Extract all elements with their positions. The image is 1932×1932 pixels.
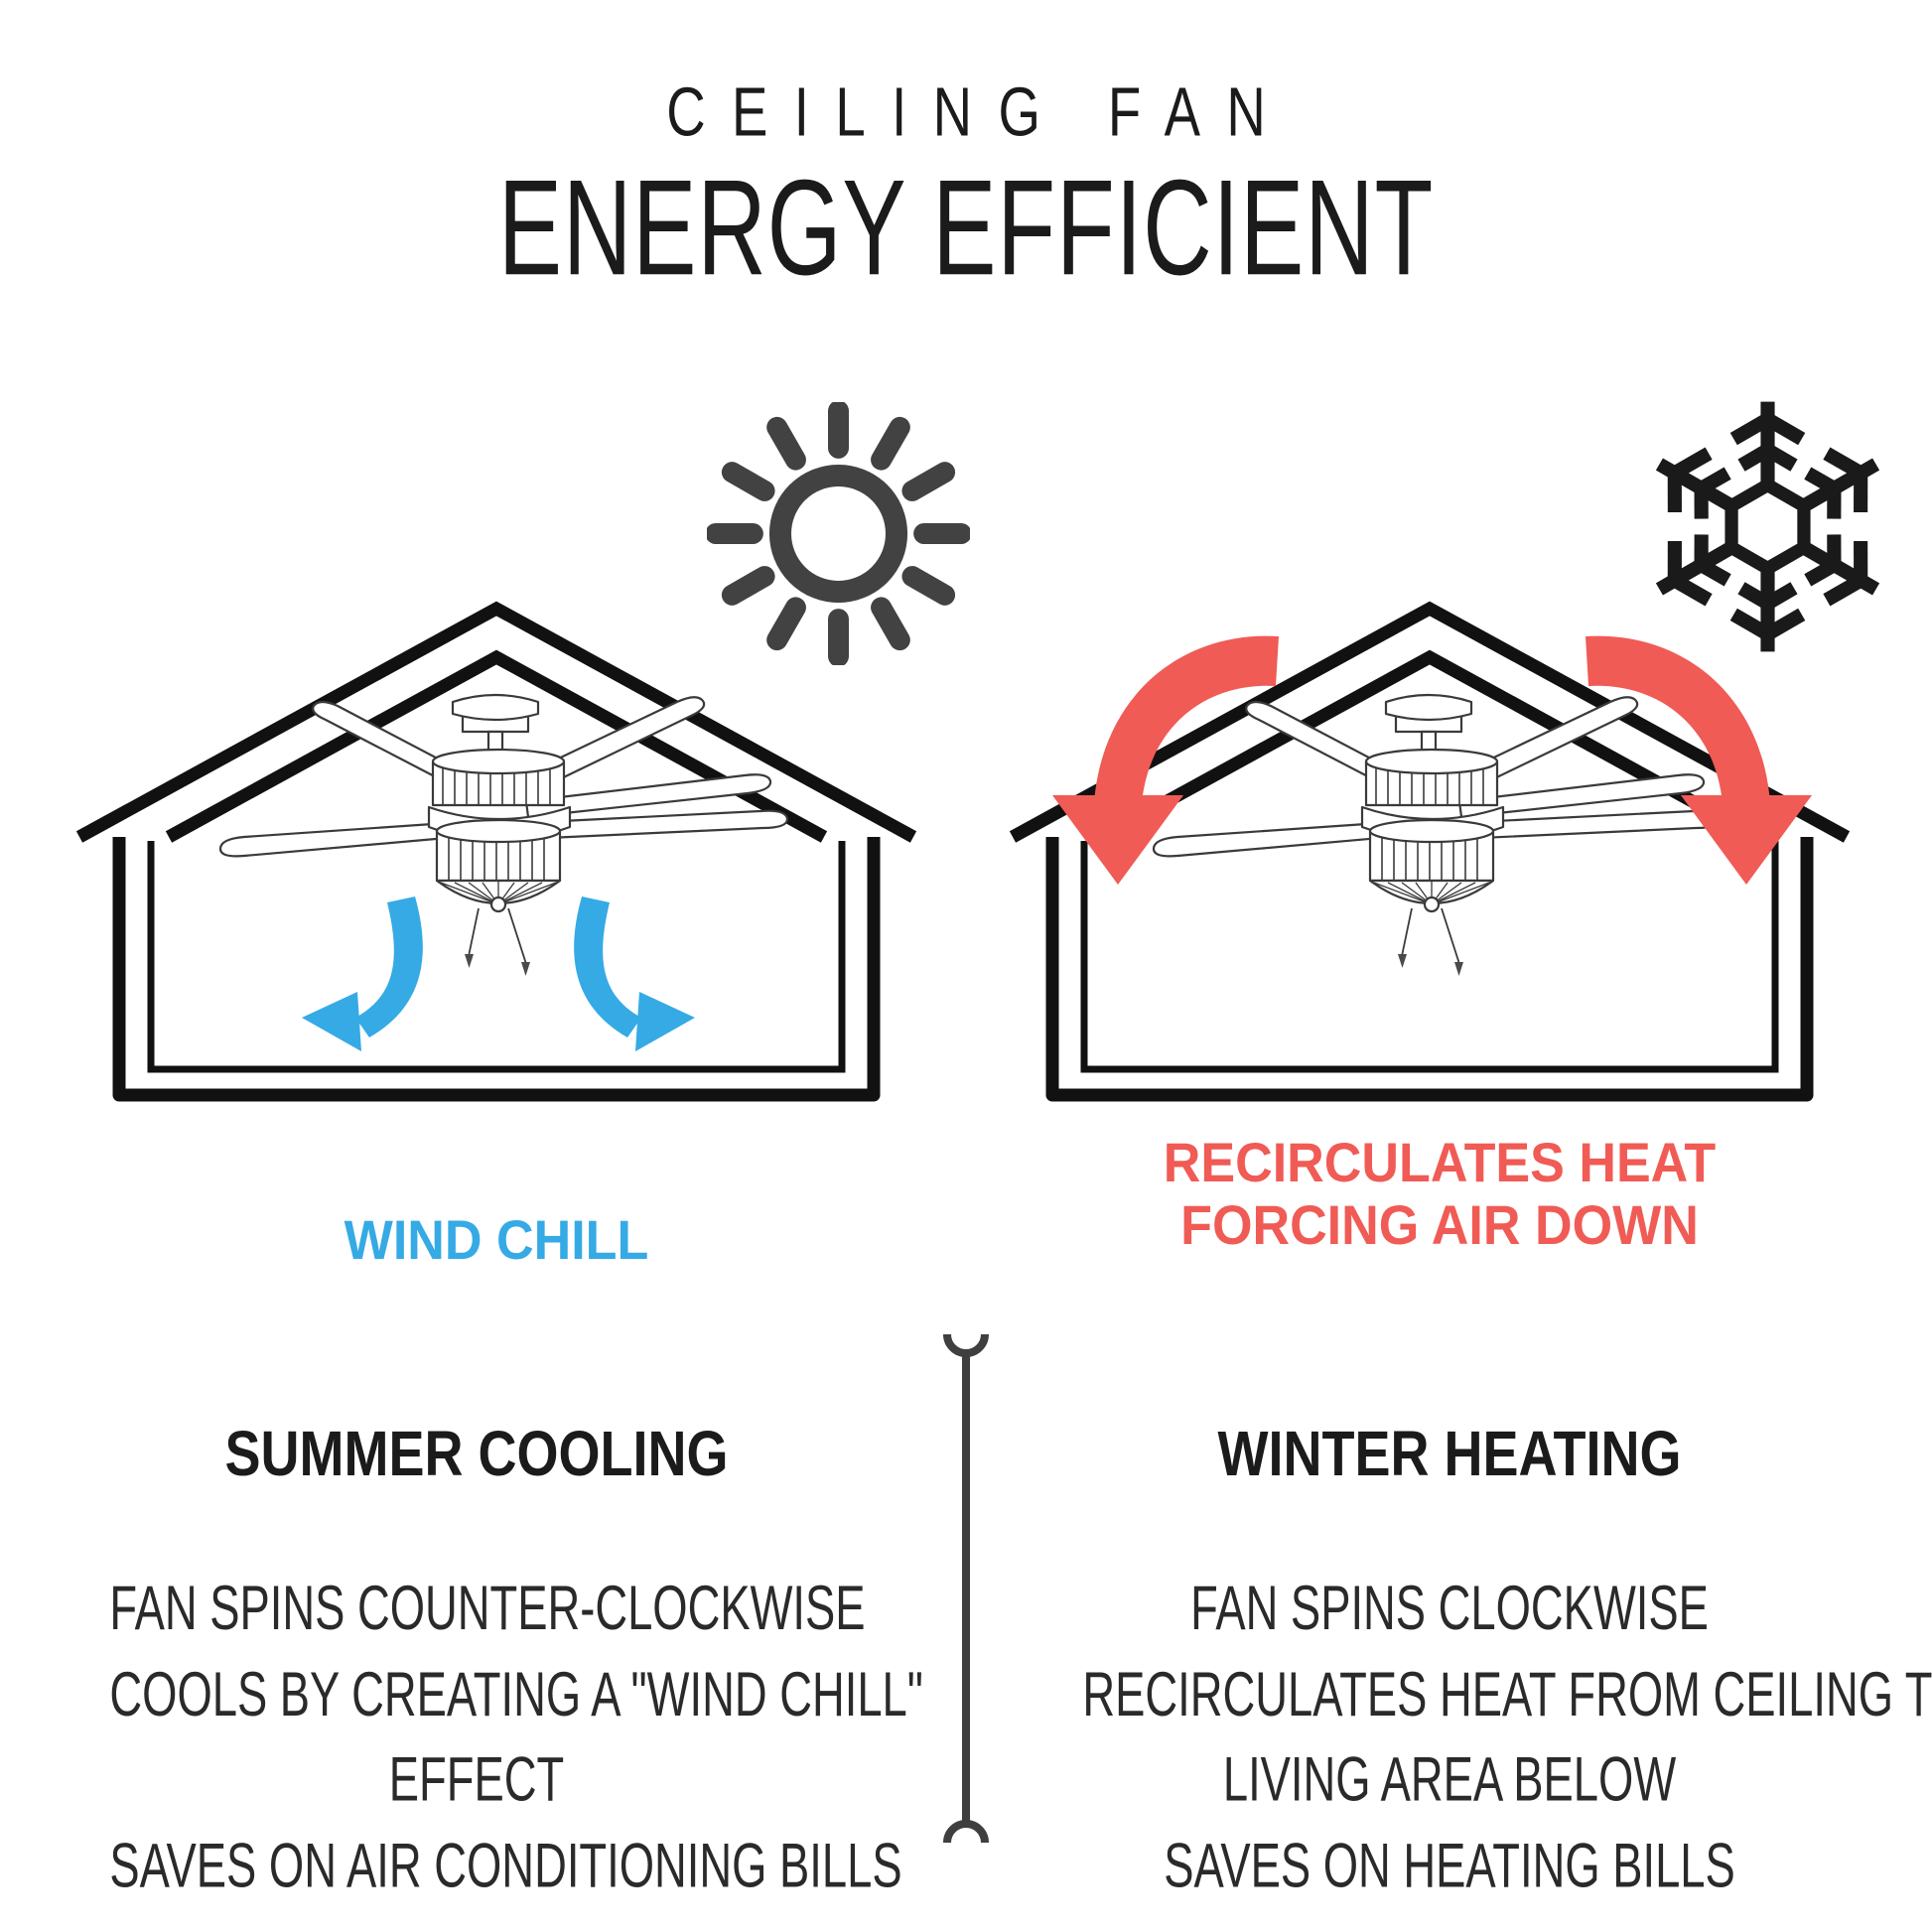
winter-body-line: RECIRCULATES HEAT FROM CEILING TO xyxy=(1082,1651,1816,1736)
airflow-arrow-left xyxy=(302,897,423,1051)
summer-title: SUMMER COOLING xyxy=(83,1418,870,1490)
summer-body-line: COOLS BY CREATING A "WIND CHILL" xyxy=(109,1651,843,1736)
recirculate-heat-callout: RECIRCULATES HEAT FORCING AIR DOWN xyxy=(1107,1132,1772,1256)
winter-body: FAN SPINS CLOCKWISE RECIRCULATES HEAT FR… xyxy=(1082,1566,1816,1909)
winter-column: WINTER HEATING FAN SPINS CLOCKWISE RECIR… xyxy=(1013,1420,1886,1862)
eyebrow-title: CEILING FAN xyxy=(116,73,1816,153)
wind-chill-text: WIND CHILL xyxy=(345,1208,649,1271)
vertical-divider xyxy=(933,1330,999,1847)
summer-body-line: FAN SPINS COUNTER-CLOCKWISE xyxy=(109,1566,843,1651)
page-title: ENERGY EFFICIENT xyxy=(164,149,1767,306)
winter-body-line: SAVES ON HEATING BILLS xyxy=(1082,1823,1816,1908)
summer-body-line: EFFECT xyxy=(109,1737,843,1823)
infographic-poster: CEILING FAN ENERGY EFFICIENT xyxy=(0,0,1932,1932)
airflow-arrow-right xyxy=(574,897,695,1051)
winter-house-scene xyxy=(993,591,1886,1375)
ceiling-fan-illustration xyxy=(1154,695,1721,976)
winter-body-line: FAN SPINS CLOCKWISE xyxy=(1082,1566,1816,1651)
wind-chill-callout: WIND CHILL xyxy=(201,1209,791,1272)
winter-title: WINTER HEATING xyxy=(1056,1418,1843,1490)
ceiling-fan-illustration xyxy=(220,695,787,976)
recirculate-line-2: FORCING AIR DOWN xyxy=(1107,1194,1772,1257)
summer-body: FAN SPINS COUNTER-CLOCKWISE COOLS BY CRE… xyxy=(109,1566,843,1909)
recirculate-line-1: RECIRCULATES HEAT xyxy=(1107,1132,1772,1194)
summer-body-line: SAVES ON AIR CONDITIONING BILLS xyxy=(109,1823,843,1908)
winter-body-line: LIVING AREA BELOW xyxy=(1082,1737,1816,1823)
summer-column: SUMMER COOLING FAN SPINS COUNTER-CLOCKWI… xyxy=(40,1420,913,1862)
